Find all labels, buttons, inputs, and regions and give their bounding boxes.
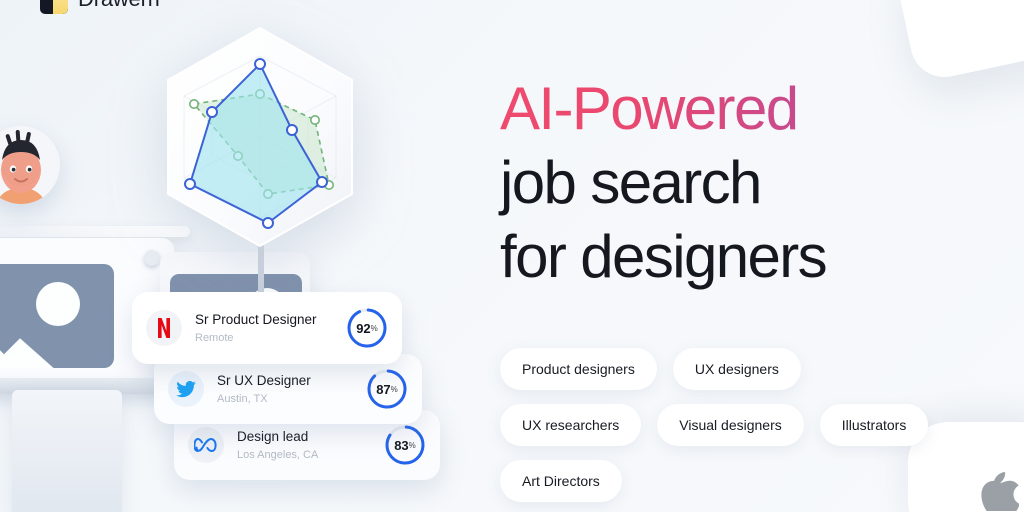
match-score-label: 87%	[366, 368, 408, 410]
decor-card-top-right	[893, 0, 1024, 83]
radar-chart-widget	[150, 22, 370, 290]
headline-accent: AI-Powered	[500, 72, 1000, 146]
match-score-value: 83	[394, 438, 408, 453]
match-score-ring: 83%	[384, 424, 426, 466]
job-card[interactable]: Sr Product Designer Remote 92%	[132, 292, 402, 364]
match-score-label: 92%	[346, 307, 388, 349]
role-tag-ux-designers[interactable]: UX designers	[673, 348, 801, 390]
radar-chart	[150, 22, 370, 252]
image-placeholder-icon	[0, 264, 114, 368]
job-location: Los Angeles, CA	[237, 449, 384, 461]
hero-content: AI-Powered job search for designers Prod…	[500, 72, 1000, 502]
job-title: Sr UX Designer	[217, 373, 366, 390]
job-info: Sr Product Designer Remote	[195, 312, 346, 344]
match-score-value: 92	[356, 321, 370, 336]
headline-line-3: for designers	[500, 220, 1000, 294]
match-score-label: 83%	[384, 424, 426, 466]
netflix-icon	[146, 310, 182, 346]
job-card[interactable]: Sr UX Designer Austin, TX 87%	[154, 354, 422, 424]
twitter-icon	[168, 371, 204, 407]
match-score-ring: 87%	[366, 368, 408, 410]
user-avatar-3d-icon	[0, 126, 60, 204]
role-tag-product-designers[interactable]: Product designers	[500, 348, 657, 390]
brand-logo[interactable]: Drawerrr	[40, 0, 162, 14]
job-title: Sr Product Designer	[195, 312, 346, 329]
job-title: Design lead	[237, 429, 384, 446]
role-tag-art-directors[interactable]: Art Directors	[500, 460, 622, 502]
match-score-ring: 92%	[346, 307, 388, 349]
percent-sign: %	[371, 324, 378, 333]
percent-sign: %	[391, 385, 398, 394]
role-tag-list: Product designers UX designers UX resear…	[500, 348, 930, 502]
match-score-value: 87	[376, 382, 390, 397]
role-tag-illustrators[interactable]: Illustrators	[820, 404, 929, 446]
job-info: Sr UX Designer Austin, TX	[217, 373, 366, 405]
role-tag-visual-designers[interactable]: Visual designers	[657, 404, 803, 446]
percent-sign: %	[409, 441, 416, 450]
drawerrr-logo-icon	[40, 0, 68, 14]
headline-line-2: job search	[500, 146, 1000, 220]
job-match-card-stack: Sr Product Designer Remote 92% Sr UX Des…	[132, 292, 422, 462]
role-tag-ux-researchers[interactable]: UX researchers	[500, 404, 641, 446]
brand-name: Drawerrr	[78, 0, 162, 12]
job-info: Design lead Los Angeles, CA	[237, 429, 384, 461]
decor-desk-stand	[12, 390, 122, 512]
job-location: Austin, TX	[217, 393, 366, 405]
meta-icon	[188, 427, 224, 463]
job-location: Remote	[195, 332, 346, 344]
page-title: AI-Powered job search for designers	[500, 72, 1000, 294]
